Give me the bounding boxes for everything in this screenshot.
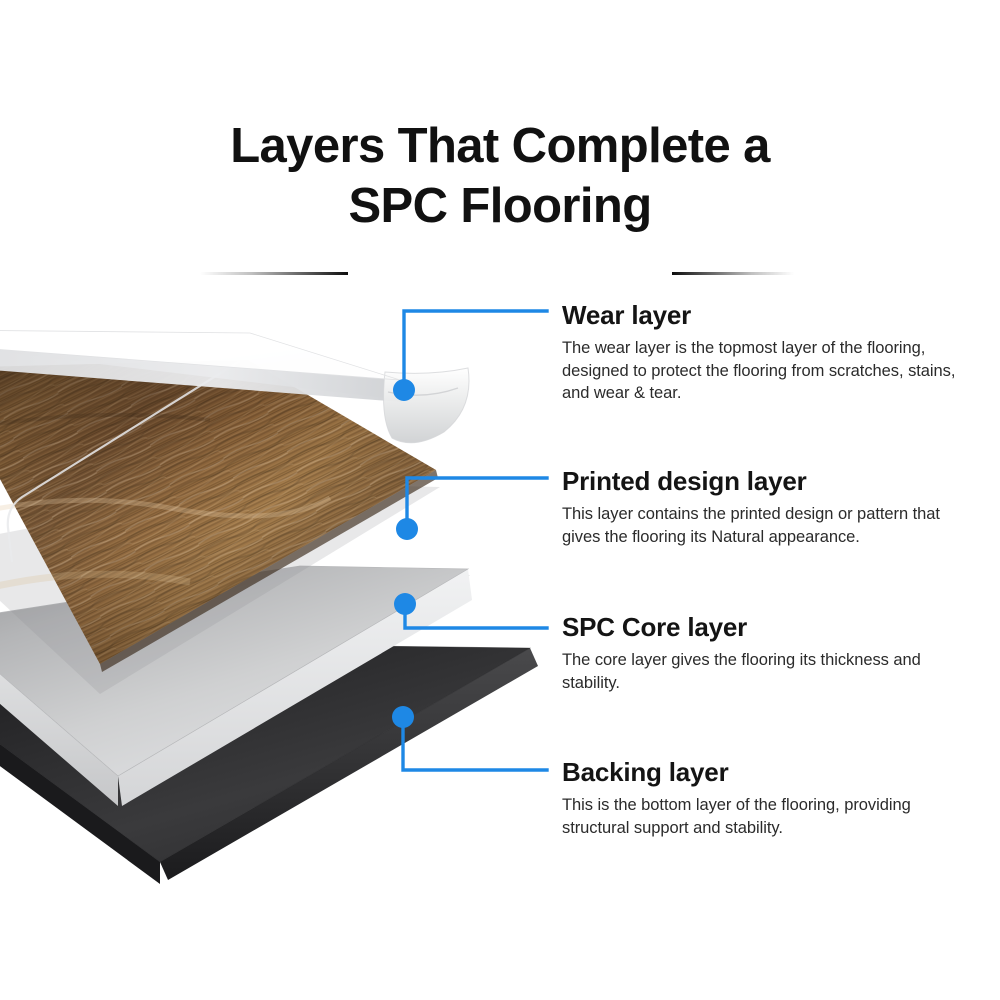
connector-spc-core-layer [405,604,547,628]
title-rule-left [200,272,348,275]
callout-description-printed-design-layer: This layer contains the printed design o… [562,503,962,548]
callout-title-printed-design-layer: Printed design layer [562,465,962,497]
callout-title-backing-layer: Backing layer [562,756,962,788]
callout-printed-design-layer: Printed design layer This layer contains… [562,465,962,548]
connector-backing-layer [403,717,547,770]
dot-backing-layer [392,706,414,728]
dot-spc-core-layer [394,593,416,615]
dot-wear-layer [393,379,415,401]
title-line-2-row: SPC Flooring [0,178,1000,236]
connector-wear-layer [404,311,547,390]
callout-title-spc-core-layer: SPC Core layer [562,611,962,643]
callout-description-backing-layer: This is the bottom layer of the flooring… [562,794,962,839]
callout-title-wear-layer: Wear layer [562,299,962,331]
infographic-canvas: Layers That Complete a SPC Flooring Wear… [0,0,1000,1000]
callout-description-spc-core-layer: The core layer gives the flooring its th… [562,649,962,694]
title-line-2: SPC Flooring [348,178,651,234]
connector-printed-design-layer [407,478,547,529]
page-title: Layers That Complete a SPC Flooring [0,118,1000,236]
title-rule-right [672,272,794,275]
dot-printed-design-layer [396,518,418,540]
callout-wear-layer: Wear layer The wear layer is the topmost… [562,299,962,405]
title-line-1: Layers That Complete a [230,119,770,173]
callout-backing-layer: Backing layer This is the bottom layer o… [562,756,962,839]
callout-description-wear-layer: The wear layer is the topmost layer of t… [562,337,962,405]
callout-spc-core-layer: SPC Core layer The core layer gives the … [562,611,962,694]
